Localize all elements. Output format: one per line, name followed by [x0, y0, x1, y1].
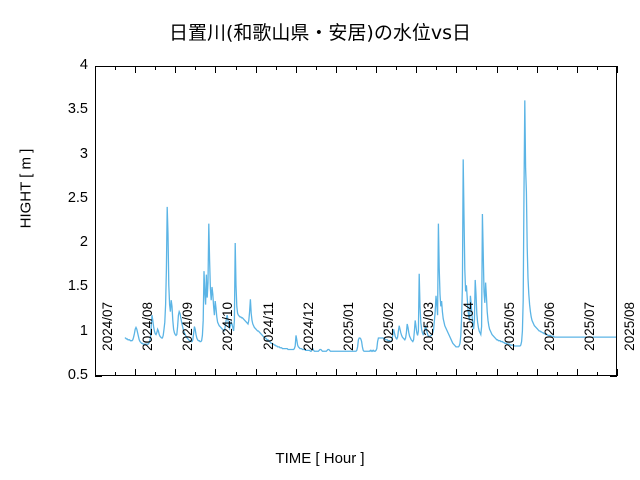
x-axis-tick-label: 2025/07 [582, 302, 597, 382]
x-axis-tick-label: 2024/12 [301, 302, 316, 382]
x-axis-tick-label: 2024/07 [100, 302, 115, 382]
x-axis-label: TIME [ Hour ] [0, 450, 640, 467]
x-axis-tick-labels: 2024/072024/082024/092024/102024/112024/… [0, 0, 640, 480]
x-axis-tick-label: 2024/09 [180, 302, 195, 382]
x-axis-tick-label: 2025/06 [542, 302, 557, 382]
x-axis-tick-label: 2025/08 [622, 302, 637, 382]
x-axis-tick-label: 2024/10 [220, 302, 235, 382]
x-axis-tick-label: 2025/01 [341, 302, 356, 382]
chart-figure: 日置川(和歌山県・安居)の水位vs日 HIGHT [ m ] 43.532.52… [0, 0, 640, 480]
x-axis-tick-label: 2025/03 [421, 302, 436, 382]
x-axis-tick-label: 2024/11 [261, 302, 276, 382]
x-axis-tick-label: 2025/04 [461, 302, 476, 382]
x-axis-tick-label: 2025/02 [381, 302, 396, 382]
x-axis-tick-label: 2025/05 [502, 302, 517, 382]
x-axis-tick-label: 2024/08 [140, 302, 155, 382]
